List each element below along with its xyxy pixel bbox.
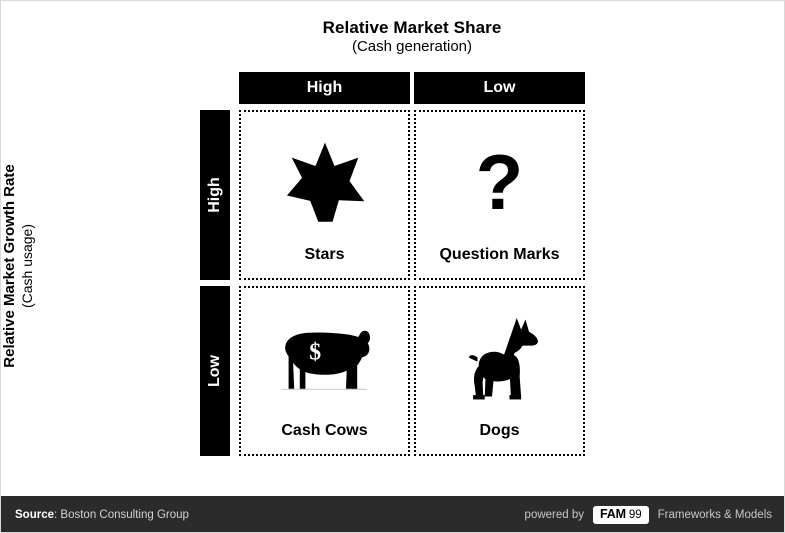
fam99-logo-primary: FAM [600, 508, 626, 521]
footer-source: Source: Boston Consulting Group [15, 509, 189, 521]
row-header-low-label: Low [206, 355, 224, 387]
quadrant-stars-icon-area [241, 112, 408, 246]
y-axis-title-sub: (Cash usage) [19, 224, 36, 308]
chart-title-main: Relative Market Share [239, 17, 585, 38]
footer-bar: Source: Boston Consulting Group powered … [1, 496, 785, 533]
chart-title: Relative Market Share (Cash generation) [239, 17, 585, 57]
quadrant-question-marks-label: Question Marks [416, 246, 583, 278]
cow-dollar-symbol: $ [309, 339, 321, 365]
row-header-high-label: High [206, 177, 224, 213]
bcg-matrix-slide: Relative Market Share (Cash generation) … [0, 0, 785, 533]
quadrant-cash-cows-label: Cash Cows [241, 422, 408, 454]
quadrant-dogs[interactable]: Dogs [414, 286, 585, 456]
seven-pointed-star-icon [284, 141, 366, 223]
quadrant-question-marks-icon-area: ? [416, 112, 583, 246]
quadrant-stars[interactable]: Stars [239, 110, 410, 280]
row-header-high: High [200, 110, 230, 280]
footer-source-separator: : [54, 509, 57, 521]
footer-tagline: Frameworks & Models [658, 509, 772, 521]
powered-by-label: powered by [525, 509, 584, 521]
chart-title-sub: (Cash generation) [239, 38, 585, 57]
quadrant-dogs-icon-area [416, 288, 583, 422]
y-axis-title-main: Relative Market Growth Rate [1, 164, 19, 367]
fam99-logo-secondary: 99 [629, 510, 642, 522]
quadrant-question-marks[interactable]: ? Question Marks [414, 110, 585, 280]
quadrant-cash-cows-icon-area: $ [241, 288, 408, 422]
y-axis-title: Relative Market Growth Rate (Cash usage) [0, 101, 40, 431]
row-header-low: Low [200, 286, 230, 456]
footer-source-value: Boston Consulting Group [60, 509, 189, 521]
cow-with-dollar-icon: $ [269, 316, 381, 400]
column-header-low-label: Low [484, 79, 516, 97]
column-header-low: Low [414, 72, 585, 104]
column-header-high: High [239, 72, 410, 104]
column-header-high-label: High [307, 79, 343, 97]
quadrant-cash-cows[interactable]: $ Cash Cows [239, 286, 410, 456]
question-mark-icon: ? [476, 147, 524, 217]
dog-icon [460, 312, 540, 404]
footer-branding: powered by FAM99 Frameworks & Models [525, 506, 772, 525]
quadrant-stars-label: Stars [241, 246, 408, 278]
quadrant-dogs-label: Dogs [416, 422, 583, 454]
fam99-logo-badge[interactable]: FAM99 [593, 506, 649, 525]
footer-source-key: Source [15, 509, 54, 521]
